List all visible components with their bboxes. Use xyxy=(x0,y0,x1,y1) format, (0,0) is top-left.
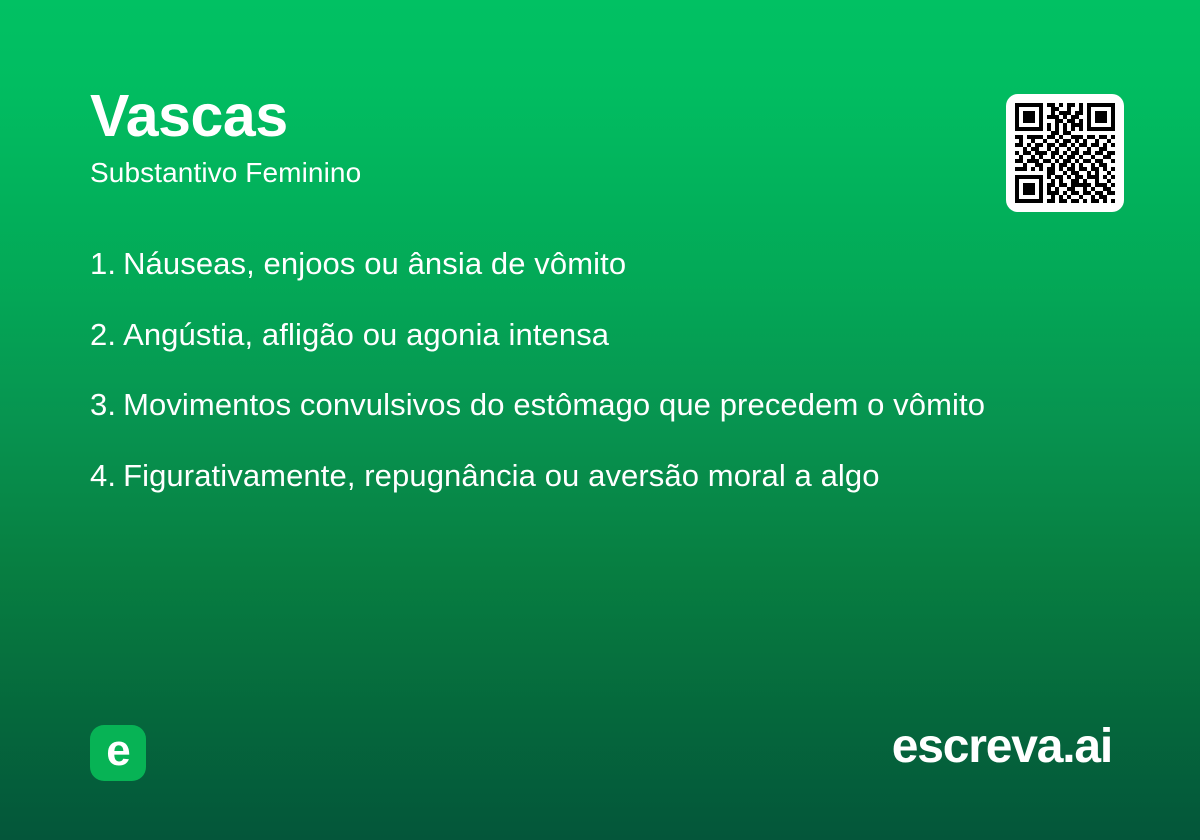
definition-text: Angústia, afligão ou agonia intensa xyxy=(123,317,609,352)
list-item: 2.Angústia, afligão ou agonia intensa xyxy=(90,317,1130,354)
entry-header: Vascas Substantivo Feminino xyxy=(90,86,910,190)
definition-number: 3. xyxy=(90,387,116,422)
page-title: Vascas xyxy=(90,86,910,146)
definition-number: 1. xyxy=(90,246,116,281)
definition-text: Movimentos convulsivos do estômago que p… xyxy=(123,387,985,422)
logo-letter: e xyxy=(106,729,129,773)
definition-text: Figurativamente, repugnância ou aversão … xyxy=(123,458,880,493)
list-item: 4.Figurativamente, repugnância ou aversã… xyxy=(90,458,1130,495)
list-item: 3.Movimentos convulsivos do estômago que… xyxy=(90,387,1130,424)
qr-code-icon[interactable] xyxy=(1006,94,1124,212)
list-item: 1.Náuseas, enjoos ou ânsia de vômito xyxy=(90,246,1130,283)
word-class-label: Substantivo Feminino xyxy=(90,156,910,190)
brand-wordmark: escreva.ai xyxy=(892,722,1112,772)
definition-number: 4. xyxy=(90,458,116,493)
definition-list: 1.Náuseas, enjoos ou ânsia de vômito 2.A… xyxy=(90,246,1130,494)
dictionary-card: Vascas Substantivo Feminino 1.Náuseas, e… xyxy=(0,0,1200,840)
definition-text: Náuseas, enjoos ou ânsia de vômito xyxy=(123,246,626,281)
definition-number: 2. xyxy=(90,317,116,352)
logo: e xyxy=(90,725,146,781)
